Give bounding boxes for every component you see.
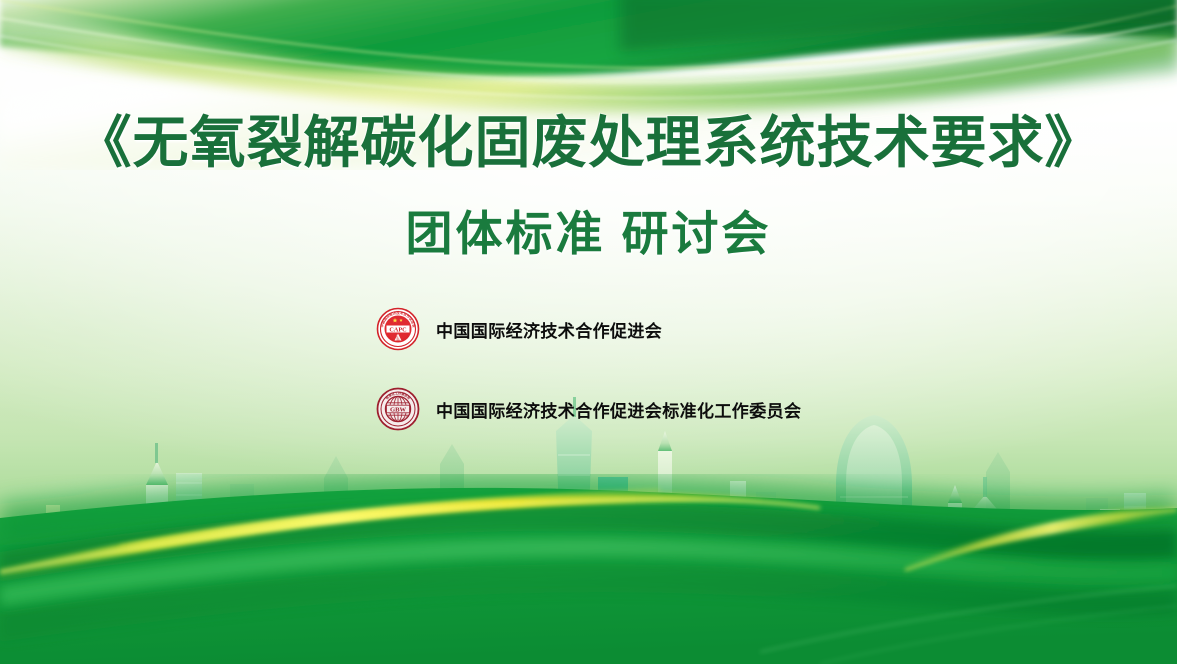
organization-row: 中国国际经济技术合作促进会 CHINA ASSOCIATION <box>376 306 1096 352</box>
organization-name: 中国国际经济技术合作促进会标准化工作委员会 <box>436 397 801 422</box>
slide-content: 《无氧裂解碳化固废处理系统技术要求》 团体标准 研讨会 <box>0 0 1177 664</box>
gbw-seal-text: GBW <box>390 406 407 413</box>
capc-seal-text: CAPC <box>389 326 406 333</box>
page-title: 《无氧裂解碳化固废处理系统技术要求》 <box>0 112 1177 175</box>
title-slide: 《无氧裂解碳化固废处理系统技术要求》 团体标准 研讨会 <box>0 0 1177 664</box>
gbw-seal-logo-icon: 标准化工作委员会 STANDARDIZATION GBW <box>376 387 420 431</box>
organization-name: 中国国际经济技术合作促进会 <box>436 317 662 342</box>
page-subtitle: 团体标准 研讨会 <box>0 207 1177 261</box>
capc-seal-logo-icon: 中国国际经济技术合作促进会 CHINA ASSOCIATION <box>376 307 420 351</box>
organization-list: 中国国际经济技术合作促进会 CHINA ASSOCIATION <box>376 306 1096 466</box>
organization-row: 标准化工作委员会 STANDARDIZATION GBW 中国国际经 <box>376 386 1096 432</box>
